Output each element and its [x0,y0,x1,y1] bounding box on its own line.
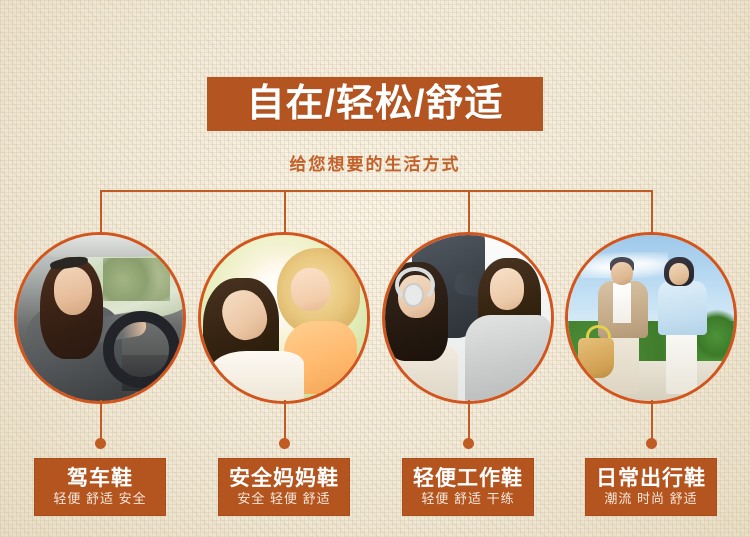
photo-office-work-image [385,235,551,401]
bracket-drop-line-4 [651,190,653,238]
photo-mother-child-image [201,235,367,401]
title-banner: 自在/轻松/舒适 [207,77,543,131]
category-title: 轻便工作鞋 [413,468,523,490]
stem-dot-3 [463,438,474,449]
category-title: 安全妈妈鞋 [229,468,339,490]
category-label-driving[interactable]: 驾车鞋 轻便 舒适 安全 [34,458,166,516]
photo-circle-office-work[interactable] [382,232,554,404]
photo-daily-outing-image [568,235,734,401]
photo-circle-mother-child[interactable] [198,232,370,404]
promo-banner-page: 自在/轻松/舒适 给您想要的生活方式 [0,0,750,537]
bracket-drop-line-3 [468,190,470,238]
category-label-work[interactable]: 轻便工作鞋 轻便 舒适 干练 [402,458,534,516]
bracket-horizontal-line [100,190,653,192]
page-subtitle: 给您想要的生活方式 [0,150,750,175]
category-label-mother[interactable]: 安全妈妈鞋 安全 轻便 舒适 [218,458,350,516]
category-features: 轻便 舒适 干练 [421,492,514,506]
category-features: 安全 轻便 舒适 [237,492,330,506]
bracket-drop-line-1 [100,190,102,238]
stem-dot-2 [279,438,290,449]
category-title: 驾车鞋 [67,468,133,490]
photo-circle-driving[interactable] [14,232,186,404]
category-label-outing[interactable]: 日常出行鞋 潮流 时尚 舒适 [585,458,717,516]
photo-driving-image [17,235,183,401]
category-title: 日常出行鞋 [596,468,706,490]
stem-dot-4 [646,438,657,449]
photo-circle-daily-outing[interactable] [565,232,737,404]
page-title: 自在/轻松/舒适 [246,85,503,123]
category-features: 潮流 时尚 舒适 [604,492,697,506]
category-features: 轻便 舒适 安全 [53,492,146,506]
bracket-drop-line-2 [284,190,286,238]
stem-dot-1 [95,438,106,449]
